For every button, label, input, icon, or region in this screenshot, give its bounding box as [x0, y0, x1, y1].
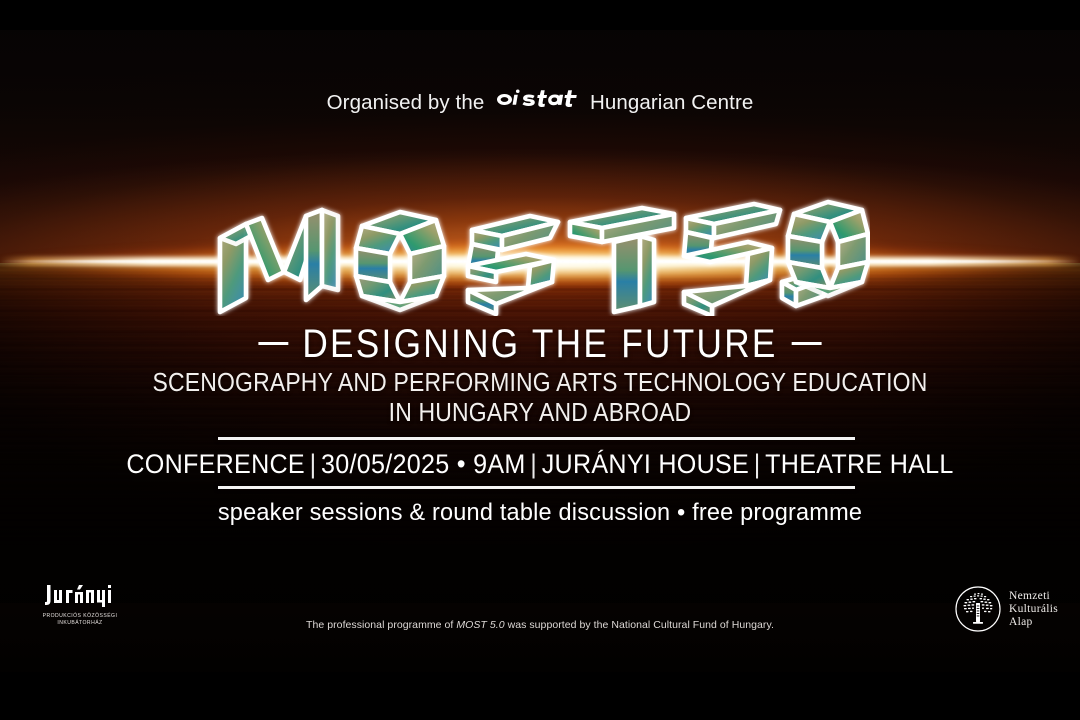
poster-content: Organised by the — [0, 0, 1080, 720]
organiser-line: Organised by the — [0, 89, 1080, 117]
divider-rule-bottom — [218, 486, 855, 489]
juranyi-tagline-line1: PRODUKCIÓS KÖZÖSSÉGI — [43, 613, 118, 619]
tagline-dash-right — [792, 342, 822, 345]
subtitle-block: SCENOGRAPHY AND PERFORMING ARTS TECHNOLO… — [54, 368, 1026, 428]
letter-S — [468, 216, 558, 314]
nka-tree-emblem-icon — [955, 586, 1001, 632]
credit-line: The professional programme of MOST 5.0 w… — [0, 619, 1080, 631]
poster-canvas: Organised by the — [0, 0, 1080, 720]
juranyi-wordmark-icon — [38, 583, 122, 609]
title-wordmark — [0, 186, 1080, 316]
juranyi-tagline: PRODUKCIÓS KÖZÖSSÉGI INKUBÁTORHÁZ — [38, 613, 122, 627]
detail-sep-1: | — [305, 449, 321, 479]
digit-5 — [684, 204, 780, 316]
detail-sep-2: | — [526, 449, 542, 479]
juranyi-tagline-line2: INKUBÁTORHÁZ — [57, 620, 102, 626]
divider-rule-top — [218, 437, 855, 440]
detail-time: 9AM — [473, 449, 525, 479]
letterbox-bottom — [0, 672, 1080, 720]
credit-after: was supported by the National Cultural F… — [508, 619, 774, 631]
tagline-dash-left — [258, 342, 288, 345]
juranyi-logo[interactable]: PRODUKCIÓS KÖZÖSSÉGI INKUBÁTORHÁZ — [38, 583, 122, 627]
detail-sep-dot: • — [457, 449, 466, 479]
oistat-logo — [497, 88, 577, 116]
organiser-suffix: Hungarian Centre — [590, 91, 753, 114]
detail-type: CONFERENCE — [126, 449, 305, 479]
conference-details-line: CONFERENCE|30/05/2025 • 9AM|JURÁNYI HOUS… — [38, 449, 1042, 480]
nka-wordmark: Nemzeti Kulturális Alap — [1009, 590, 1058, 629]
credit-before: The professional programme of — [306, 619, 453, 631]
credit-emphasis: MOST 5.0 — [456, 619, 504, 631]
most-5-0-svg — [210, 186, 870, 316]
nka-logo[interactable]: Nemzeti Kulturális Alap — [955, 586, 1058, 632]
detail-venue: JURÁNYI HOUSE — [542, 449, 749, 479]
nka-line-1: Nemzeti — [1009, 590, 1058, 603]
detail-sep-3: | — [749, 449, 765, 479]
letter-O — [356, 212, 444, 310]
detail-room: THEATRE HALL — [765, 449, 953, 479]
letter-M — [220, 210, 338, 312]
subtitle-line-2: IN HUNGARY AND ABROAD — [54, 398, 1026, 428]
nka-line-2: Kulturális — [1009, 603, 1058, 616]
subtitle-line-1: SCENOGRAPHY AND PERFORMING ARTS TECHNOLO… — [153, 369, 928, 397]
letter-T — [570, 208, 674, 312]
organiser-prefix: Organised by the — [327, 91, 485, 114]
tagline-text: DESIGNING THE FUTURE — [302, 322, 777, 366]
digit-0 — [788, 202, 868, 296]
tagline: DESIGNING THE FUTURE — [65, 322, 1015, 367]
letterbox-top — [0, 0, 1080, 30]
programme-line: speaker sessions & round table discussio… — [22, 499, 1059, 527]
detail-date: 30/05/2025 — [321, 449, 449, 479]
nka-line-3: Alap — [1009, 616, 1058, 629]
